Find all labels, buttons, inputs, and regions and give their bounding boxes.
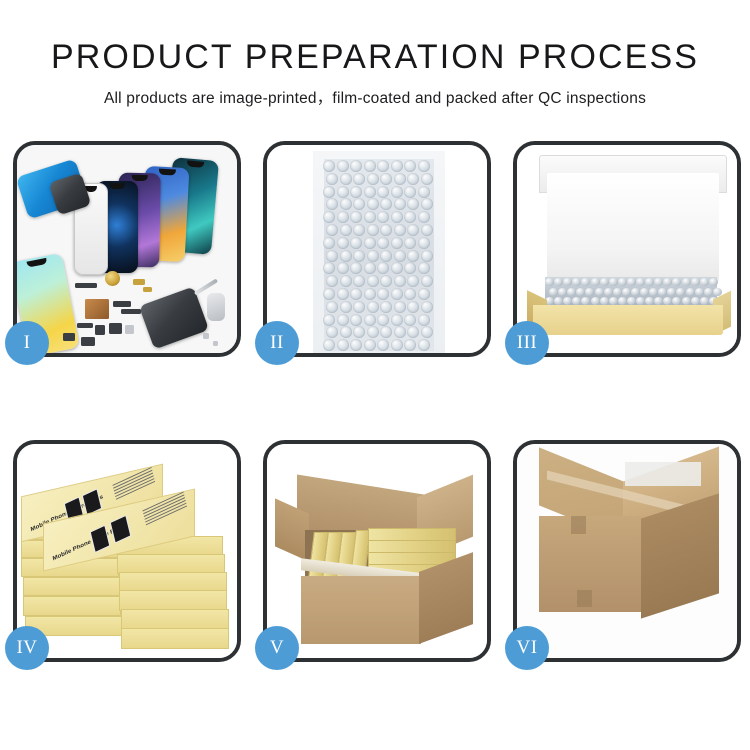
bubble — [545, 278, 554, 286]
step-badge-3: III — [505, 321, 549, 365]
bubble — [377, 186, 389, 198]
bubble — [549, 288, 558, 296]
bubble — [364, 339, 376, 351]
step-badge-4: IV — [5, 626, 49, 670]
small-part — [113, 301, 131, 307]
bubble — [340, 198, 352, 210]
bubble — [654, 297, 663, 305]
bubble — [394, 224, 406, 236]
bubble — [380, 301, 392, 313]
bubble — [609, 278, 618, 286]
bubble — [709, 278, 718, 286]
bubble — [394, 250, 406, 262]
bubble — [418, 314, 430, 326]
bubble — [377, 211, 389, 223]
bubble — [585, 288, 594, 296]
bubble — [380, 173, 392, 185]
bubble — [645, 297, 654, 305]
bubble — [558, 288, 567, 296]
bubble — [600, 278, 609, 286]
bubble — [337, 211, 349, 223]
bubble — [613, 288, 622, 296]
bubble — [421, 250, 433, 262]
bubble — [654, 278, 663, 286]
bubble — [391, 314, 403, 326]
bubble — [380, 198, 392, 210]
bubble — [421, 224, 433, 236]
bubble — [326, 301, 338, 313]
bubble — [407, 198, 419, 210]
bubble — [645, 278, 654, 286]
bubble — [391, 262, 403, 274]
small-part — [143, 287, 152, 292]
phone-parts-scene — [17, 145, 237, 353]
screw-part — [213, 341, 218, 346]
bubble — [618, 278, 627, 286]
bubble — [394, 301, 406, 313]
panel-3-image — [517, 145, 737, 353]
bubble — [323, 186, 335, 198]
box-artwork-screen — [90, 525, 111, 553]
bubble — [563, 297, 572, 305]
open-carton-scene — [267, 444, 487, 658]
bubble — [323, 160, 335, 172]
bubble — [350, 262, 362, 274]
phone-back-housing — [139, 286, 209, 349]
bubble — [323, 262, 335, 274]
bubble — [418, 211, 430, 223]
sealed-carton-scene — [517, 444, 737, 658]
bubble — [367, 301, 379, 313]
bubble — [326, 275, 338, 287]
bubble — [627, 297, 636, 305]
page-subtitle: All products are image-printed，film-coat… — [0, 86, 750, 108]
vibration-motor-part — [105, 271, 120, 286]
bubble — [364, 160, 376, 172]
bubble — [377, 288, 389, 300]
bubble — [391, 288, 403, 300]
stacked-box — [121, 628, 229, 649]
bubble — [326, 198, 338, 210]
bubble — [337, 288, 349, 300]
bubble — [581, 297, 590, 305]
bubble — [340, 250, 352, 262]
step-badge-2: II — [255, 321, 299, 365]
bubble — [404, 160, 416, 172]
bubble — [377, 237, 389, 249]
bubble-wrap-scene — [267, 145, 487, 353]
bubble — [591, 278, 600, 286]
bubble — [353, 198, 365, 210]
phone-notch — [132, 175, 148, 181]
process-step-panel-4: Mobile Phone Spare Parts Mobile Phone Sp… — [13, 440, 241, 662]
stacked-box — [119, 590, 227, 611]
stacked-box — [23, 577, 121, 596]
bubble — [572, 278, 581, 286]
process-step-panel-3: III — [513, 141, 741, 357]
bubble — [353, 224, 365, 236]
bubble — [421, 198, 433, 210]
bubble — [353, 173, 365, 185]
bubble — [404, 186, 416, 198]
background-highlight — [625, 462, 701, 486]
carton-front-face — [301, 576, 421, 644]
bubble — [421, 301, 433, 313]
small-part — [63, 333, 75, 341]
bubble — [609, 297, 618, 305]
bubble — [377, 339, 389, 351]
phone-notch — [27, 258, 48, 268]
bubble — [418, 262, 430, 274]
bubble — [350, 186, 362, 198]
bubble — [377, 160, 389, 172]
bubble — [418, 237, 430, 249]
stacked-box — [121, 609, 229, 630]
bubble — [404, 288, 416, 300]
bubble — [380, 326, 392, 338]
bubble-wrapped-contents — [545, 277, 717, 307]
bubble — [394, 173, 406, 185]
bubble — [337, 237, 349, 249]
bubble — [618, 297, 627, 305]
small-part — [81, 337, 95, 346]
bubble — [391, 211, 403, 223]
bubble — [682, 278, 691, 286]
bubble — [367, 326, 379, 338]
box-artwork-screen — [110, 515, 132, 544]
bubble — [404, 314, 416, 326]
bubble — [350, 339, 362, 351]
bubble — [364, 237, 376, 249]
small-part — [75, 283, 97, 288]
bubble — [404, 237, 416, 249]
bubble — [663, 278, 672, 286]
bubble — [353, 250, 365, 262]
box-spec-lines — [112, 467, 155, 502]
bubble — [353, 326, 365, 338]
bubble — [636, 278, 645, 286]
bubble — [672, 297, 681, 305]
bubble — [323, 211, 335, 223]
screw-part — [203, 333, 209, 339]
small-part — [133, 279, 145, 285]
step-badge-5: V — [255, 626, 299, 670]
bubble — [394, 275, 406, 287]
bubble — [554, 297, 563, 305]
bubble — [394, 198, 406, 210]
bubble — [337, 160, 349, 172]
phone-notch — [159, 169, 176, 176]
bubble — [581, 278, 590, 286]
bubble — [691, 278, 700, 286]
bubble — [340, 301, 352, 313]
process-step-panel-6: VI — [513, 440, 741, 662]
bubble — [350, 211, 362, 223]
bubble — [364, 314, 376, 326]
mailer-box-scene — [517, 145, 737, 353]
bubble — [649, 288, 658, 296]
bubble — [367, 275, 379, 287]
bubble — [421, 275, 433, 287]
bubble — [604, 288, 613, 296]
page-header: PRODUCT PREPARATION PROCESS All products… — [0, 0, 750, 128]
bubble — [704, 288, 713, 296]
bubble — [391, 237, 403, 249]
box-front-panel — [533, 305, 723, 335]
bubble — [323, 314, 335, 326]
phone-notch — [187, 160, 205, 167]
bubble — [326, 173, 338, 185]
bubble — [367, 198, 379, 210]
bubble — [350, 288, 362, 300]
bubble — [337, 314, 349, 326]
bubble — [418, 288, 430, 300]
bubble — [676, 288, 685, 296]
bubble — [391, 186, 403, 198]
bubble-wrap-field — [324, 159, 434, 351]
bubble — [340, 275, 352, 287]
bubble — [576, 288, 585, 296]
bubble — [407, 250, 419, 262]
stacked-boxes-scene: Mobile Phone Spare Parts Mobile Phone Sp… — [17, 444, 237, 658]
bubble — [691, 297, 700, 305]
panel-1-image — [17, 145, 237, 353]
bubble — [377, 314, 389, 326]
process-step-panel-5: V — [263, 440, 491, 662]
panel-4-image: Mobile Phone Spare Parts Mobile Phone Sp… — [17, 444, 237, 658]
bubble — [672, 278, 681, 286]
bubble — [572, 297, 581, 305]
bubble — [326, 250, 338, 262]
bubble — [350, 160, 362, 172]
bubble — [595, 288, 604, 296]
bubble — [567, 288, 576, 296]
bubble — [563, 278, 572, 286]
bubble — [407, 173, 419, 185]
bubble — [377, 262, 389, 274]
bubble — [364, 211, 376, 223]
bubble — [350, 237, 362, 249]
bubble — [326, 326, 338, 338]
bubble — [340, 326, 352, 338]
step-badge-6: VI — [505, 626, 549, 670]
panel-6-image — [517, 444, 737, 658]
bubble — [326, 224, 338, 236]
bubble — [636, 297, 645, 305]
bubble — [323, 237, 335, 249]
bubble — [418, 186, 430, 198]
connector-board-part — [85, 299, 109, 319]
stacked-box — [119, 572, 227, 592]
foam-insert — [547, 173, 719, 281]
bubble — [380, 275, 392, 287]
bubble — [418, 160, 430, 172]
bubble — [695, 288, 704, 296]
bubble — [700, 278, 709, 286]
small-part — [109, 323, 122, 334]
tool-handle — [207, 293, 225, 321]
bubble — [391, 160, 403, 172]
bubble — [700, 297, 709, 305]
bubble — [554, 278, 563, 286]
bubble — [622, 288, 631, 296]
bubble — [591, 297, 600, 305]
bubble — [404, 262, 416, 274]
bubble — [337, 262, 349, 274]
bubble — [337, 339, 349, 351]
bubble — [380, 250, 392, 262]
bubble — [600, 297, 609, 305]
bubble — [353, 275, 365, 287]
page-title: PRODUCT PREPARATION PROCESS — [0, 38, 750, 77]
panel-2-image — [267, 145, 487, 353]
bubble — [337, 186, 349, 198]
bubble — [407, 326, 419, 338]
bubble — [631, 288, 640, 296]
bubble — [323, 339, 335, 351]
panel-5-image — [267, 444, 487, 658]
bubble — [323, 288, 335, 300]
process-panel-grid: I II III — [11, 141, 739, 701]
bubble — [380, 224, 392, 236]
bubble — [627, 278, 636, 286]
bubble — [350, 314, 362, 326]
bubble — [353, 301, 365, 313]
stacked-box — [23, 596, 121, 616]
bubble — [340, 224, 352, 236]
tape-tab-lower — [577, 590, 592, 607]
process-step-panel-1: I — [13, 141, 241, 357]
bubble — [682, 297, 691, 305]
bubble — [404, 211, 416, 223]
bubble — [407, 301, 419, 313]
bubble — [686, 288, 695, 296]
process-step-panel-2: II — [263, 141, 491, 357]
stacked-box — [117, 554, 225, 574]
bubble — [364, 262, 376, 274]
bubble — [407, 224, 419, 236]
step-badge-1: I — [5, 321, 49, 365]
bubble — [418, 339, 430, 351]
small-part — [95, 325, 105, 335]
bubble — [640, 288, 649, 296]
bubble — [394, 326, 406, 338]
bubble — [421, 173, 433, 185]
bubble — [658, 288, 667, 296]
small-part — [121, 309, 141, 314]
bubble — [407, 275, 419, 287]
phone-notch — [109, 183, 125, 189]
tape-tab-upper — [571, 516, 586, 534]
bubble — [367, 224, 379, 236]
bubble — [391, 339, 403, 351]
bubble — [404, 339, 416, 351]
small-part — [77, 323, 93, 328]
small-part — [125, 325, 134, 334]
bubble — [367, 173, 379, 185]
bubble — [367, 250, 379, 262]
bubble — [364, 288, 376, 300]
bubble — [667, 288, 676, 296]
bubble — [364, 186, 376, 198]
bubble — [663, 297, 672, 305]
bubble — [421, 326, 433, 338]
bubble — [340, 173, 352, 185]
